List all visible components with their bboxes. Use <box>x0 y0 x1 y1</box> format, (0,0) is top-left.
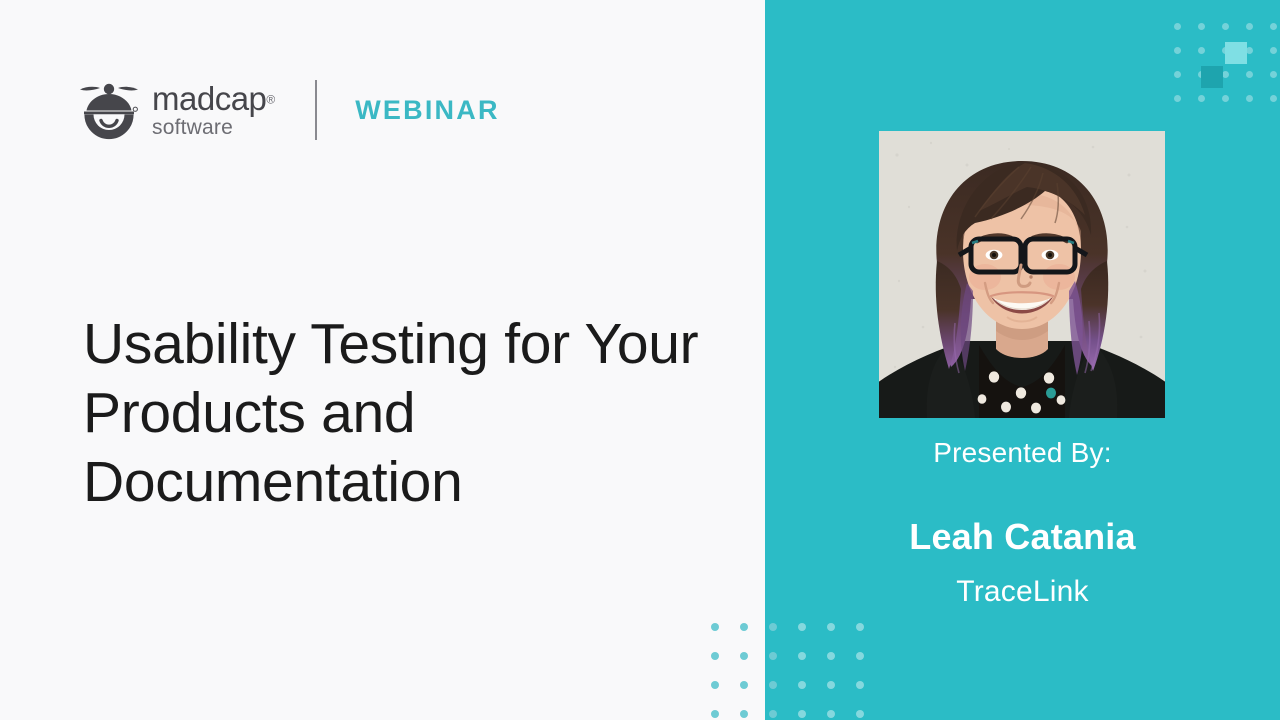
dot <box>711 652 719 660</box>
presented-by-label: Presented By: <box>765 437 1280 469</box>
dot <box>1174 95 1181 102</box>
dot <box>740 652 748 660</box>
dot <box>1222 95 1229 102</box>
dot <box>769 623 777 631</box>
dot <box>1198 47 1205 54</box>
madcap-wordmark: madcap® software <box>152 82 275 138</box>
webinar-title-slide: madcap® software WEBINAR Usability Testi… <box>0 0 1280 720</box>
dot <box>798 710 806 718</box>
dot-pattern-bottom-icon <box>700 612 874 720</box>
dot <box>827 710 835 718</box>
dot <box>1270 47 1277 54</box>
dot <box>740 681 748 689</box>
dot <box>856 652 864 660</box>
slide-header: madcap® software WEBINAR <box>78 74 500 146</box>
madcap-propeller-beanie-logo-icon <box>78 80 140 140</box>
speaker-company: TraceLink <box>765 575 1280 609</box>
header-divider <box>315 80 317 140</box>
dot <box>798 652 806 660</box>
accent-square-dark <box>1201 66 1223 88</box>
dot <box>1198 23 1205 30</box>
dot <box>1246 71 1253 78</box>
dot <box>740 710 748 718</box>
dot <box>798 623 806 631</box>
dot <box>827 681 835 689</box>
dot <box>1222 23 1229 30</box>
dot <box>1174 71 1181 78</box>
dot <box>856 623 864 631</box>
speaker-photo <box>879 131 1165 418</box>
dot <box>1246 95 1253 102</box>
webinar-label: WEBINAR <box>355 95 499 126</box>
dot <box>798 681 806 689</box>
dot <box>827 623 835 631</box>
dot <box>769 710 777 718</box>
dot <box>856 710 864 718</box>
dot <box>711 681 719 689</box>
dot <box>711 710 719 718</box>
dot <box>711 623 719 631</box>
dot <box>769 681 777 689</box>
dot-pattern-top-right-icon <box>1165 14 1280 110</box>
dot <box>1270 71 1277 78</box>
registered-mark: ® <box>266 93 275 107</box>
dot <box>1174 23 1181 30</box>
dot <box>1270 95 1277 102</box>
accent-square-light <box>1225 42 1247 64</box>
dot <box>856 681 864 689</box>
dot <box>1270 23 1277 30</box>
wordmark-subtitle: software <box>152 117 275 138</box>
dot <box>769 652 777 660</box>
dot <box>1246 23 1253 30</box>
dot <box>740 623 748 631</box>
dot <box>1174 47 1181 54</box>
page-title: Usability Testing for Your Products and … <box>83 310 723 517</box>
dot <box>1198 95 1205 102</box>
wordmark-main: madcap <box>152 82 266 115</box>
speaker-name: Leah Catania <box>765 516 1280 558</box>
dot <box>827 652 835 660</box>
